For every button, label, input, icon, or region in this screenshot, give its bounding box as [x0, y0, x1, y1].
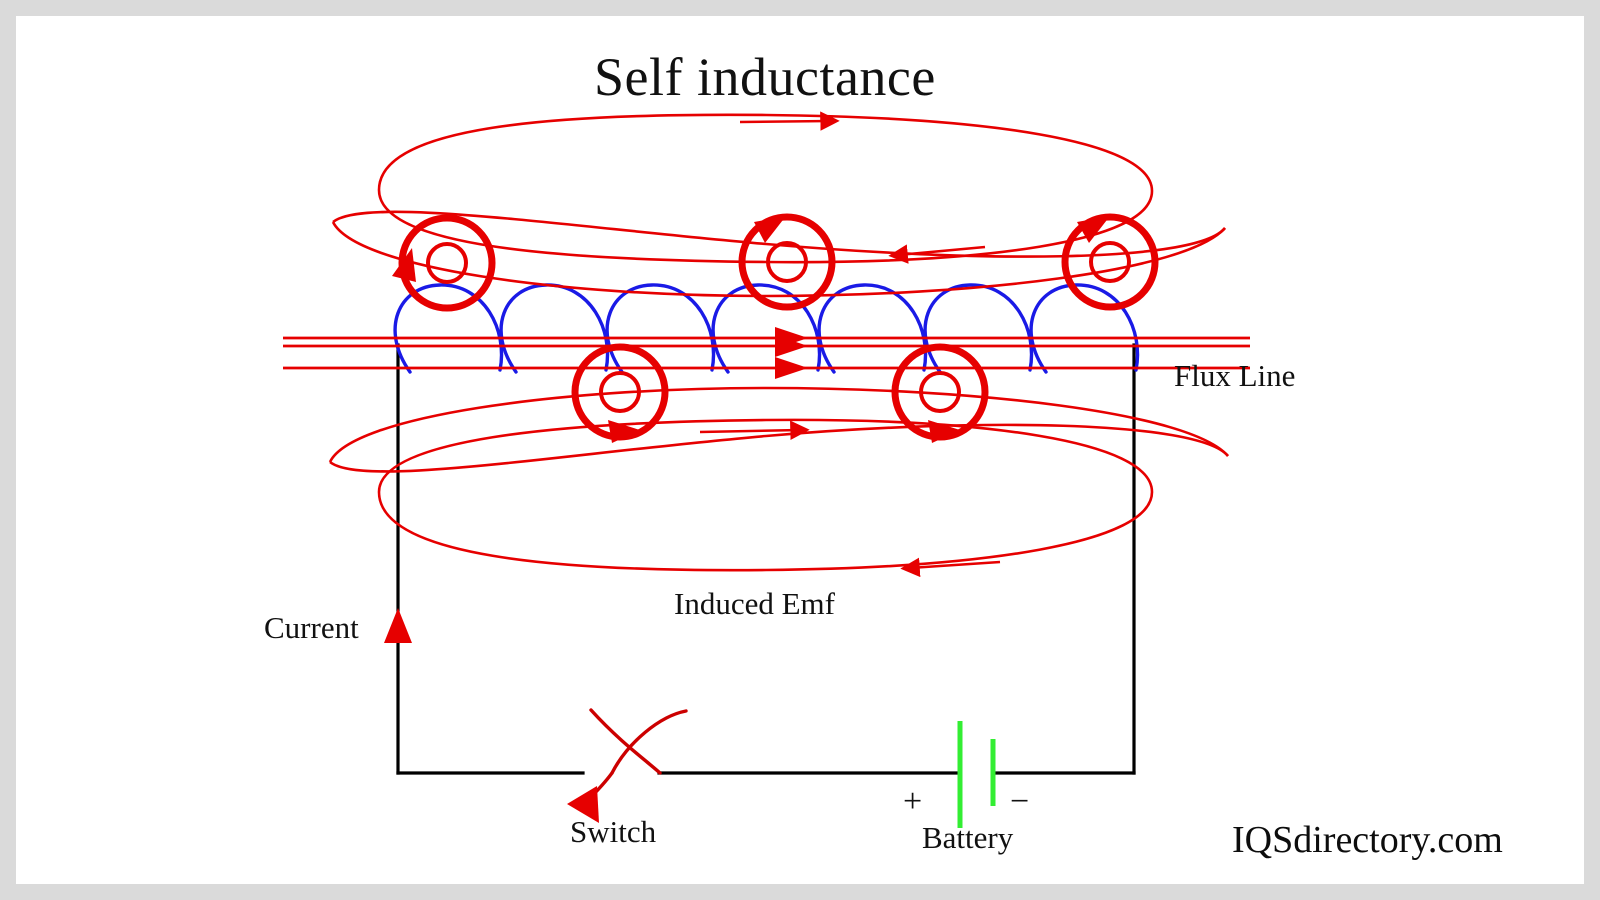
switch-blade[interactable] — [591, 710, 660, 773]
current-arrow — [384, 608, 412, 643]
label-induced-emf: Induced Emf — [674, 586, 835, 622]
label-current: Current — [264, 610, 359, 646]
flux-loop-outer-top-arrow — [740, 121, 830, 122]
coil-turn — [925, 285, 1031, 372]
flux-loop-inner-top-arrow — [898, 247, 985, 255]
flux-circle-top-left — [392, 218, 492, 308]
coil-turn — [607, 285, 713, 372]
label-flux-line: Flux Line — [1174, 358, 1295, 394]
page-title: Self inductance — [594, 46, 936, 108]
self-inductance-diagram — [0, 0, 1600, 900]
switch[interactable] — [588, 710, 686, 800]
flux-line-axis — [283, 338, 1250, 368]
flux-line-arrowheads — [775, 327, 808, 379]
watermark: IQSdirectory.com — [1232, 818, 1503, 862]
flux-circle-arrowhead — [754, 216, 786, 243]
current-arrowhead — [384, 608, 412, 643]
battery-positive-label: + — [903, 783, 922, 821]
label-battery: Battery — [922, 820, 1013, 856]
label-switch: Switch — [570, 814, 656, 850]
flux-loop-outer-bottom — [379, 420, 1152, 570]
coil-turn — [395, 285, 501, 372]
flux-circle-inner — [428, 244, 466, 282]
battery — [960, 721, 993, 828]
flux-loop-inner-bottom — [330, 388, 1228, 462]
battery-negative-label: − — [1010, 783, 1029, 821]
flux-loop-inner-bottom-arrow — [700, 430, 800, 432]
flux-arrow-3 — [775, 357, 808, 379]
flux-circle-inner — [1091, 243, 1129, 281]
